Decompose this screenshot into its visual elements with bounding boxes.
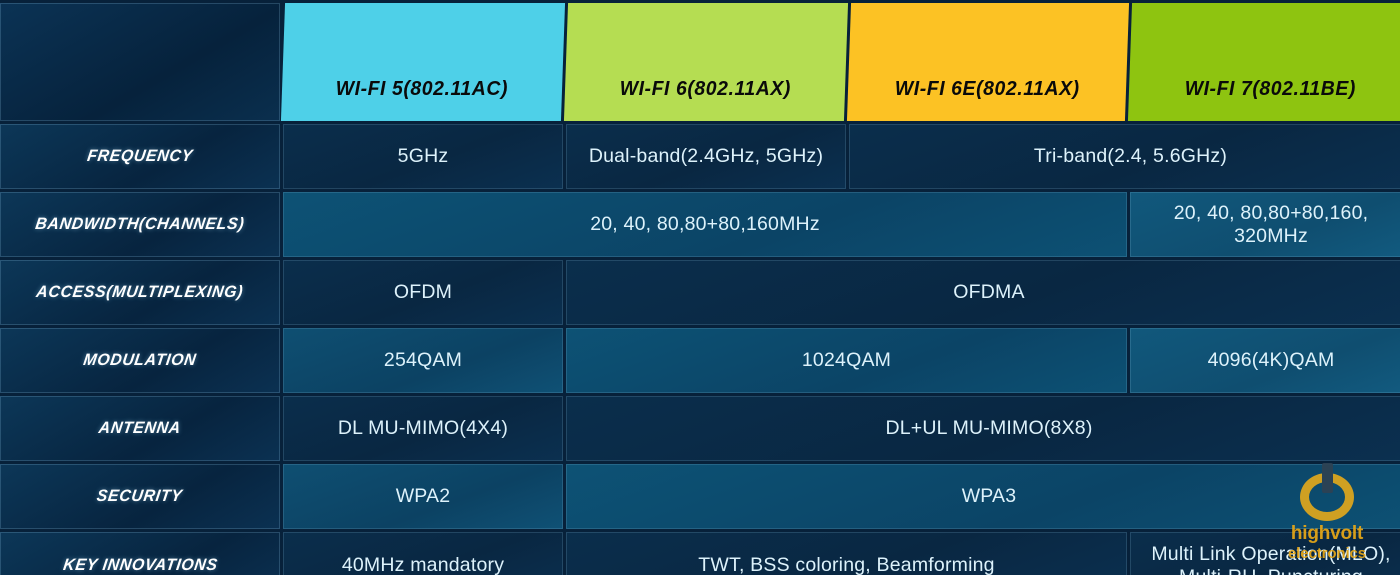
cell-key-innovations-wifi6-wifi6e: TWT, BSS coloring, Beamforming xyxy=(566,532,1127,575)
row-label-frequency-text: FREQUENCY xyxy=(86,147,194,166)
row-label-access-text: ACCESS(MULTIPLEXING) xyxy=(35,283,244,302)
cell-key-innovations-wifi7: Multi Link Operation(MLO), Multi-RU, Pun… xyxy=(1130,532,1400,575)
cell-frequency-wifi6e-wifi7: Tri-band(2.4, 5.6GHz) xyxy=(849,124,1400,189)
row-label-modulation: MODULATION xyxy=(0,328,280,393)
row-label-key-innovations: KEY INNOVATIONS xyxy=(0,532,280,575)
column-header-wifi7-label: WI-FI 7(802.11BE) xyxy=(1184,78,1355,101)
cell-antenna-wifi5: DL MU-MIMO(4X4) xyxy=(283,396,563,461)
row-label-frequency: FREQUENCY xyxy=(0,124,280,189)
column-header-wifi5-label: WI-FI 5(802.11AC) xyxy=(336,78,508,101)
cell-access-wifi5: OFDM xyxy=(283,260,563,325)
cell-security-wifi5: WPA2 xyxy=(283,464,563,529)
row-label-security-text: SECURITY xyxy=(96,487,184,506)
column-header-wifi5: WI-FI 5(802.11AC) xyxy=(281,3,565,121)
cell-frequency-wifi5: 5GHz xyxy=(283,124,563,189)
column-header-wifi7: WI-FI 7(802.11BE) xyxy=(1128,3,1400,121)
cell-frequency-wifi6: Dual-band(2.4GHz, 5GHz) xyxy=(566,124,846,189)
table-corner-cell xyxy=(0,3,280,121)
cell-access-wifi6-wifi7: OFDMA xyxy=(566,260,1400,325)
row-label-security: SECURITY xyxy=(0,464,280,529)
cell-modulation-wifi7: 4096(4K)QAM xyxy=(1130,328,1400,393)
column-header-wifi6e: WI-FI 6E(802.11AX) xyxy=(847,3,1129,121)
column-header-wifi6: WI-FI 6(802.11AX) xyxy=(564,3,848,121)
cell-security-wifi6-wifi7: WPA3 xyxy=(566,464,1400,529)
cell-modulation-wifi5: 254QAM xyxy=(283,328,563,393)
row-label-key-innovations-text: KEY INNOVATIONS xyxy=(61,556,218,575)
cell-antenna-wifi6-wifi7: DL+UL MU-MIMO(8X8) xyxy=(566,396,1400,461)
column-header-wifi6-label: WI-FI 6(802.11AX) xyxy=(619,78,790,101)
column-header-wifi6e-label: WI-FI 6E(802.11AX) xyxy=(895,78,1080,101)
cell-bandwidth-wifi7: 20, 40, 80,80+80,160, 320MHz xyxy=(1130,192,1400,257)
cell-key-innovations-wifi5: 40MHz mandatory xyxy=(283,532,563,575)
row-label-antenna: ANTENNA xyxy=(0,396,280,461)
row-label-modulation-text: MODULATION xyxy=(82,351,198,370)
row-label-access: ACCESS(MULTIPLEXING) xyxy=(0,260,280,325)
row-label-bandwidth: BANDWIDTH(CHANNELS) xyxy=(0,192,280,257)
cell-bandwidth-wifi5-wifi6e: 20, 40, 80,80+80,160MHz xyxy=(283,192,1127,257)
row-label-antenna-text: ANTENNA xyxy=(98,419,183,438)
row-label-bandwidth-text: BANDWIDTH(CHANNELS) xyxy=(34,215,246,234)
cell-modulation-wifi6-wifi6e: 1024QAM xyxy=(566,328,1127,393)
wifi-comparison-table: WI-FI 5(802.11AC) WI-FI 6(802.11AX) WI-F… xyxy=(0,0,1400,575)
